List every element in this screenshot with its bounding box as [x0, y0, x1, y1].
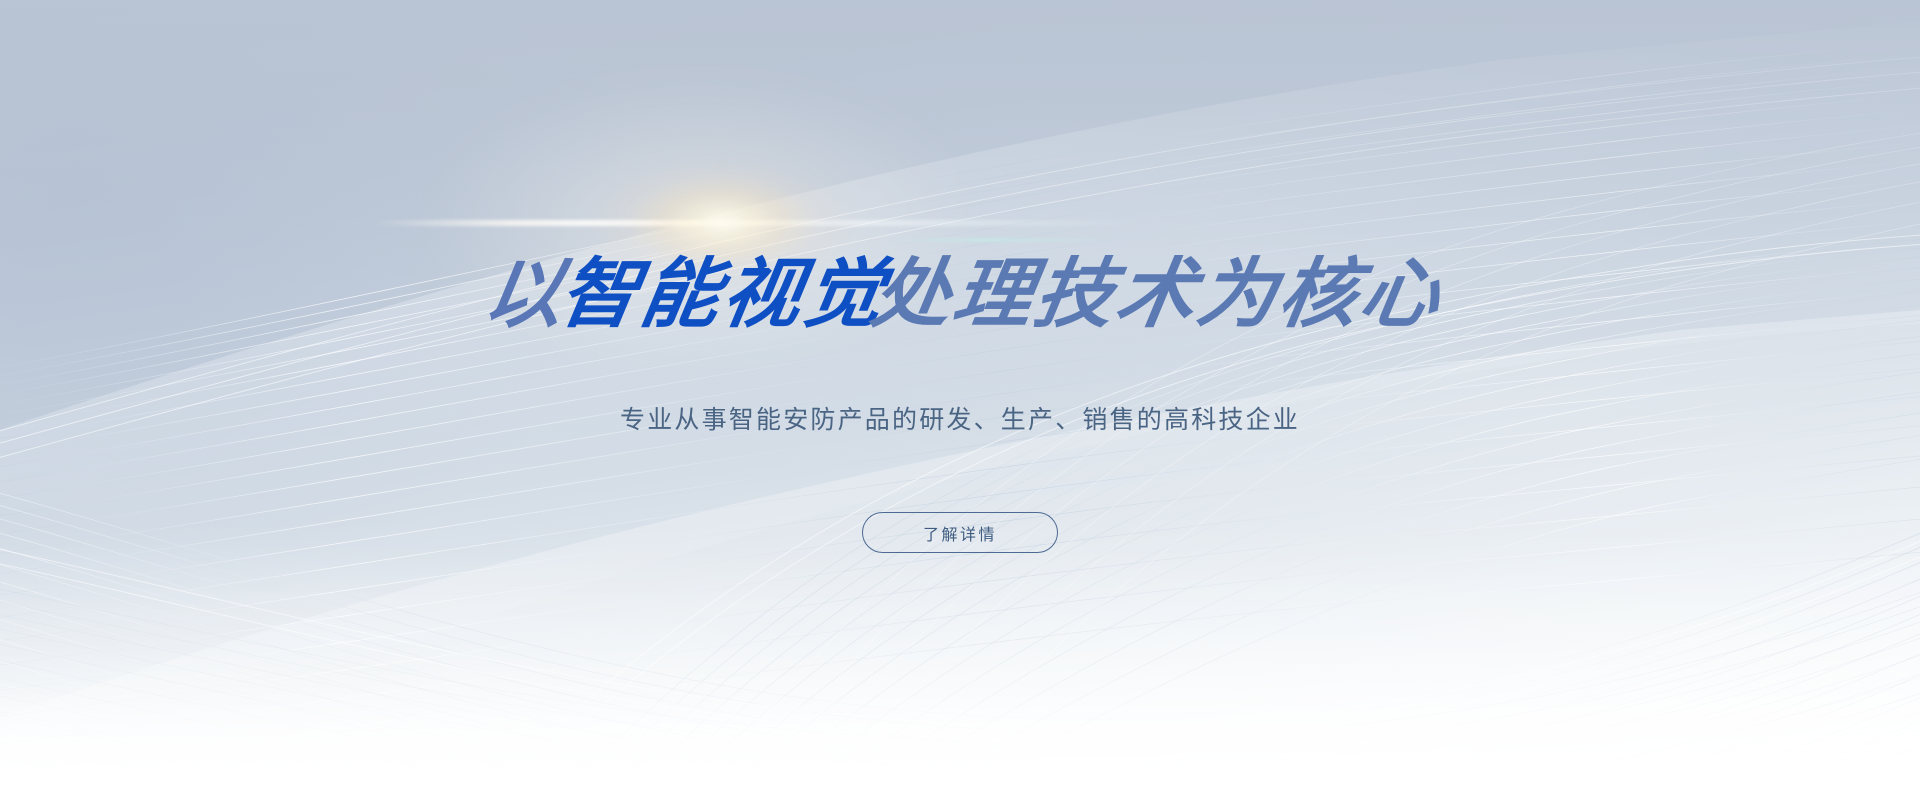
page-title: 以智能视觉处理技术为核心 [486, 256, 1434, 332]
headline-segment-suffix: 处理技术为核心 [867, 256, 1449, 332]
headline-segment-emphasis: 智能视觉 [554, 256, 892, 332]
page-subtitle: 专业从事智能安防产品的研发、生产、销售的高科技企业 [620, 400, 1300, 436]
learn-more-button[interactable]: 了解详情 [862, 512, 1058, 553]
hero-content: 以智能视觉处理技术为核心 专业从事智能安防产品的研发、生产、销售的高科技企业 了… [0, 0, 1920, 800]
hero-banner: 以智能视觉处理技术为核心 专业从事智能安防产品的研发、生产、销售的高科技企业 了… [0, 0, 1920, 800]
